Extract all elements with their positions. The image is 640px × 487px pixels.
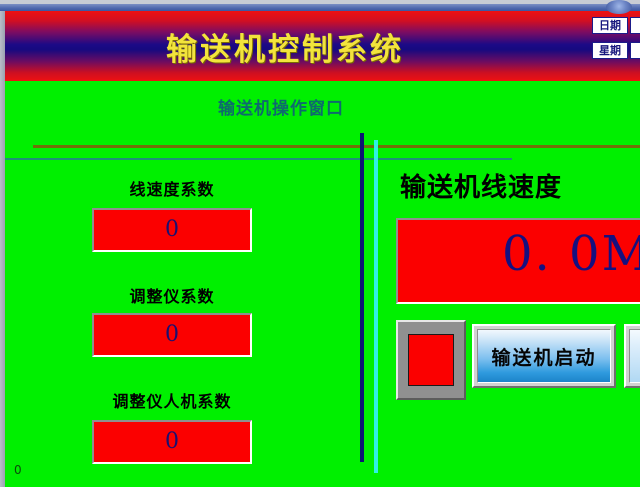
date-value [630,17,640,34]
status-lamp-frame [396,320,466,400]
divider-vertical-navy [360,133,364,462]
conveyor-control-screen: 输送机控制系统 日期 星期 5 输送机操作窗口 线速度系数 0 调整仪系数 0 … [0,0,640,487]
secondary-button[interactable] [624,324,640,388]
window-chrome [0,0,640,11]
label-adjuster-coefficient: 调整仪系数 [92,283,252,307]
status-lamp-indicator[interactable] [408,334,454,386]
secondary-button-label [629,329,640,383]
label-conveyor-line-speed: 输送机线速度 [400,167,640,204]
divider-olive-rule [33,145,640,148]
conveyor-start-button[interactable]: 输送机启动 [472,324,616,388]
value-line-speed-coefficient: 0 [94,210,250,250]
display-conveyor-line-speed: 0. 0M [396,218,640,304]
weekday-label: 星期 [592,42,628,59]
input-adjuster-coefficient[interactable]: 0 [92,313,252,357]
value-conveyor-line-speed: 0. 0M [502,226,640,282]
footer-status-value: 0 [14,463,22,477]
header-green-strip [5,81,640,86]
window-left-edge [0,11,5,487]
label-adjuster-hmi-coefficient: 调整仪人机系数 [76,388,268,412]
page-title: 输送机控制系统 [5,24,565,69]
app-header-banner: 输送机控制系统 [5,11,640,81]
input-adjuster-hmi-coefficient[interactable]: 0 [92,420,252,464]
value-adjuster-hmi-coefficient: 0 [94,422,250,462]
label-line-speed-coefficient: 线速度系数 [92,176,252,200]
window-subtitle: 输送机操作窗口 [0,94,562,119]
input-line-speed-coefficient[interactable]: 0 [92,208,252,252]
divider-vertical-cyan [374,140,378,473]
divider-teal-rule [0,158,512,160]
conveyor-start-button-label: 输送机启动 [477,329,611,383]
blue-orb-icon[interactable] [606,0,632,14]
weekday-value: 5 [630,42,640,59]
value-adjuster-coefficient: 0 [94,315,250,355]
window-title-bar[interactable] [0,4,640,11]
date-label: 日期 [592,17,628,34]
